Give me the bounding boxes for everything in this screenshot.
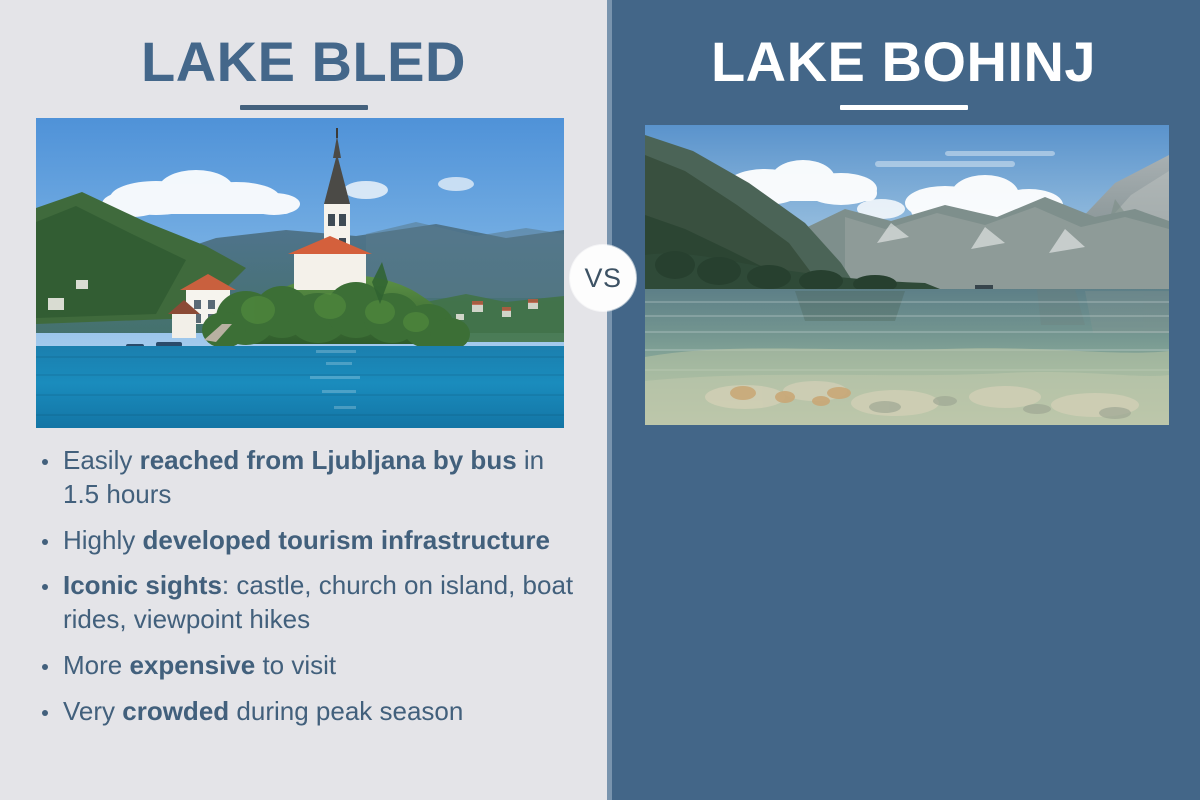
left-title-block: LAKE BLED	[0, 0, 607, 110]
vs-badge: VS	[570, 245, 636, 311]
panel-lake-bohinj: LAKE BOHINJ	[607, 0, 1200, 800]
feature-list-lake-bled: Easily reached from Ljubljana by bus in …	[36, 444, 576, 741]
title-underline-left	[240, 105, 368, 110]
list-item: Very crowded during peak season	[36, 695, 576, 729]
page-title-right: LAKE BOHINJ	[607, 34, 1200, 90]
lake-bohinj-illustration	[645, 125, 1169, 425]
right-title-block: LAKE BOHINJ	[607, 0, 1200, 110]
list-item: Highly developed tourism infrastructure	[36, 524, 576, 558]
panel-lake-bled: LAKE BLED	[0, 0, 607, 800]
page-title-left: LAKE BLED	[0, 34, 607, 90]
list-item: Iconic sights: castle, church on island,…	[36, 569, 576, 637]
comparison-infographic: LAKE BLED	[0, 0, 1200, 800]
list-item: More expensive to visit	[36, 649, 576, 683]
title-underline-right	[840, 105, 968, 110]
lake-bled-illustration	[36, 118, 564, 428]
photo-lake-bled	[36, 118, 564, 428]
list-item: Easily reached from Ljubljana by bus in …	[36, 444, 576, 512]
photo-lake-bohinj	[645, 125, 1169, 425]
